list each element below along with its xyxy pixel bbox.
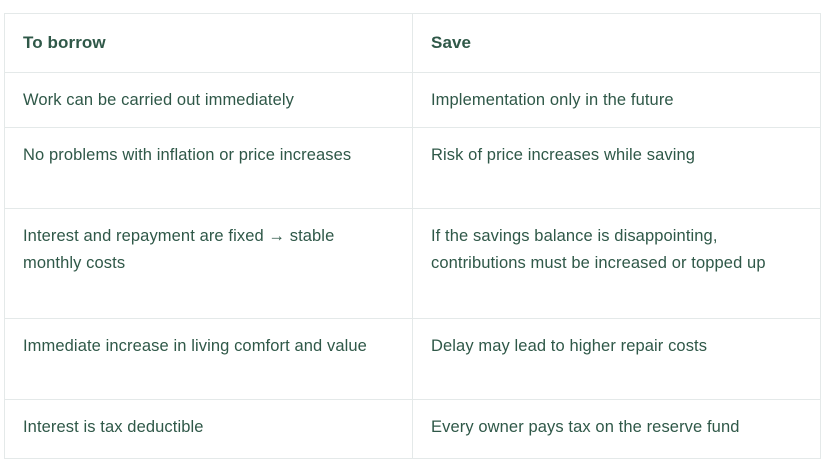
column-header-to-borrow-label: To borrow xyxy=(23,29,396,57)
table-header-row: To borrow Save xyxy=(5,14,821,73)
cell-text: Risk of price increases while saving xyxy=(431,142,804,169)
table-body: Work can be carried out immediately Impl… xyxy=(5,72,821,459)
column-header-save: Save xyxy=(413,14,821,73)
table-row: Interest and repayment are fixed → stabl… xyxy=(5,209,821,319)
cell-borrow-2: No problems with inflation or price incr… xyxy=(5,128,413,209)
cell-text: Immediate increase in living comfort and… xyxy=(23,333,396,360)
cell-text: Interest and repayment are fixed → stabl… xyxy=(23,223,396,276)
cell-text: Delay may lead to higher repair costs xyxy=(431,333,804,360)
cell-save-1: Implementation only in the future xyxy=(413,72,821,128)
table-row: Immediate increase in living comfort and… xyxy=(5,319,821,400)
cell-save-5: Every owner pays tax on the reserve fund xyxy=(413,400,821,459)
comparison-table-container: To borrow Save Work can be carried out i… xyxy=(4,13,820,459)
cell-borrow-3: Interest and repayment are fixed → stabl… xyxy=(5,209,413,319)
cell-text: Interest is tax deductible xyxy=(23,414,396,441)
cell-save-3: If the savings balance is disappointing,… xyxy=(413,209,821,319)
table-row: No problems with inflation or price incr… xyxy=(5,128,821,209)
cell-save-4: Delay may lead to higher repair costs xyxy=(413,319,821,400)
cell-borrow-4: Immediate increase in living comfort and… xyxy=(5,319,413,400)
column-header-save-label: Save xyxy=(431,29,804,57)
cell-text: If the savings balance is disappointing,… xyxy=(431,223,804,276)
table-row: Interest is tax deductible Every owner p… xyxy=(5,400,821,459)
table-row: Work can be carried out immediately Impl… xyxy=(5,72,821,128)
table-header: To borrow Save xyxy=(5,14,821,73)
cell-save-2: Risk of price increases while saving xyxy=(413,128,821,209)
cell-text: Every owner pays tax on the reserve fund xyxy=(431,414,804,441)
cell-text: Work can be carried out immediately xyxy=(23,87,396,114)
cell-text: Implementation only in the future xyxy=(431,87,804,114)
column-header-to-borrow: To borrow xyxy=(5,14,413,73)
comparison-table: To borrow Save Work can be carried out i… xyxy=(4,13,821,459)
cell-text: No problems with inflation or price incr… xyxy=(23,142,396,169)
cell-borrow-1: Work can be carried out immediately xyxy=(5,72,413,128)
cell-borrow-5: Interest is tax deductible xyxy=(5,400,413,459)
